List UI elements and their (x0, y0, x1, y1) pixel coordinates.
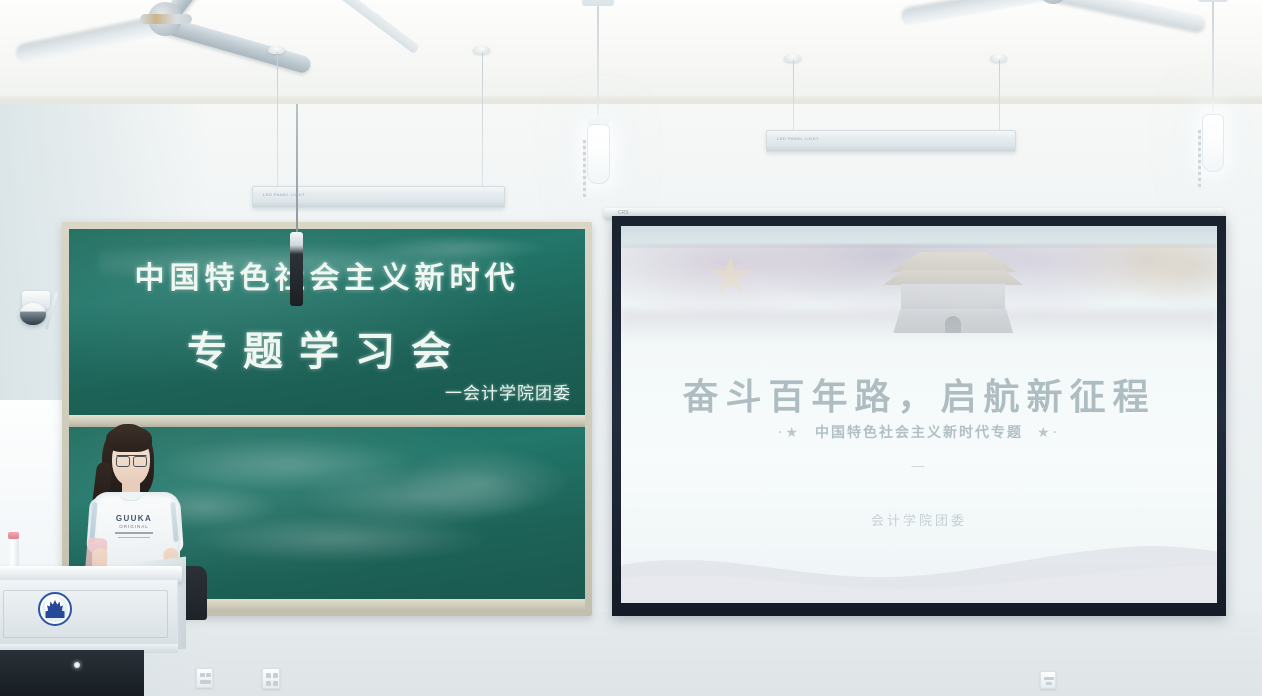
switch-rocker[interactable] (273, 681, 278, 686)
fluorescent-tube-icon: LED PANEL LIGHT (766, 130, 1016, 152)
slide-organization: 会计学院团委 (621, 510, 1217, 529)
slide-subtitle-text: 中国特色社会主义新时代专题 (815, 425, 1023, 441)
tshirt-brand-text: GUUKA (112, 514, 156, 523)
gate-arch (945, 316, 961, 333)
blackboard-line-1: 中国特色社会主义新时代 (69, 253, 585, 297)
tube-wire (482, 52, 483, 186)
podium (0, 579, 178, 653)
switch-rocker[interactable] (266, 673, 271, 678)
tube-label: LED PANEL LIGHT (263, 192, 305, 197)
tube-wire (999, 60, 1000, 130)
blackboard-signature: 一会计学院团委 (445, 379, 571, 404)
switch-rocker[interactable] (200, 673, 205, 677)
chalk-smudge (399, 447, 569, 517)
security-camera-icon (20, 303, 46, 325)
pull-cord-handle[interactable] (290, 232, 303, 306)
ceiling-fan-icon (900, 0, 1220, 64)
slide-wave-decoration (621, 531, 1217, 603)
blackboard-upper-panel: 中国特色社会主义新时代 专题学习会 一会计学院团委 (69, 229, 585, 415)
projection-screen: 奋斗百年路，启航新征程 ·★中国特色社会主义新时代专题★· — 会计学院团委 (612, 216, 1226, 616)
gate-roof-lower (883, 270, 1023, 285)
pendant-wire (597, 6, 599, 120)
star-left-icon: ·★ (778, 425, 801, 441)
tshirt-bar (115, 532, 153, 534)
presenter: GUUKA ORIGINAL (86, 420, 186, 570)
light-switch-icon[interactable] (262, 668, 280, 689)
pendant-chain (1198, 130, 1201, 190)
tshirt-bar (118, 537, 150, 538)
light-switch-icon[interactable] (196, 668, 213, 688)
classroom-scene: LED PANEL LIGHT LED PANEL LIGHT 中国特色社会主义… (0, 0, 1262, 696)
tube-wire (277, 52, 278, 186)
switch-rocker[interactable] (273, 673, 278, 678)
university-emblem (38, 592, 72, 626)
slide-subtitle: ·★中国特色社会主义新时代专题★· (621, 422, 1217, 442)
pull-cord[interactable] (296, 104, 298, 234)
gate-roof (889, 252, 1017, 272)
pendant-chain (583, 140, 586, 198)
switch-rocker[interactable] (206, 673, 211, 677)
pendant-lamp-icon (1202, 114, 1224, 172)
slide-divider: — (621, 458, 1217, 473)
outlet-slot (1046, 682, 1052, 685)
tshirt-sub-text: ORIGINAL (112, 524, 156, 529)
switch-rocker[interactable] (266, 681, 271, 686)
podium-base (0, 650, 144, 696)
tiananmen-gate-icon (883, 252, 1023, 336)
pendant-wire (1212, 2, 1214, 114)
blackboard-line-2: 专题学习会 (69, 319, 585, 377)
pendant-lamp-icon (587, 124, 610, 184)
water-bottle-cap (8, 532, 19, 539)
hair-front (106, 426, 152, 452)
fan-blade (901, 0, 1053, 26)
podium-indicator-light (74, 662, 80, 668)
outlet-slot (1044, 677, 1054, 680)
slide-title: 奋斗百年路，启航新征程 (621, 368, 1217, 420)
podium-panel-inset (3, 590, 168, 638)
tube-wire (793, 60, 794, 130)
switch-rocker[interactable] (200, 680, 211, 684)
ceiling-fan-icon (40, 0, 340, 80)
gate-body (901, 284, 1005, 310)
emblem-mark (46, 600, 65, 618)
fan-blade (162, 16, 313, 74)
power-outlet-icon[interactable] (1040, 671, 1056, 689)
tshirt-graphic: GUUKA ORIGINAL (112, 514, 156, 542)
presentation-slide: 奋斗百年路，启航新征程 ·★中国特色社会主义新时代专题★· — 会计学院团委 (621, 226, 1217, 603)
fan-blade (1050, 0, 1206, 32)
tube-label: LED PANEL LIGHT (777, 136, 819, 141)
water-bottle-icon (8, 538, 19, 568)
fluorescent-tube-icon: LED PANEL LIGHT (252, 186, 505, 208)
star-right-icon: ★· (1037, 425, 1060, 441)
glasses-icon (116, 455, 147, 464)
fan-hub-ring (140, 14, 192, 24)
